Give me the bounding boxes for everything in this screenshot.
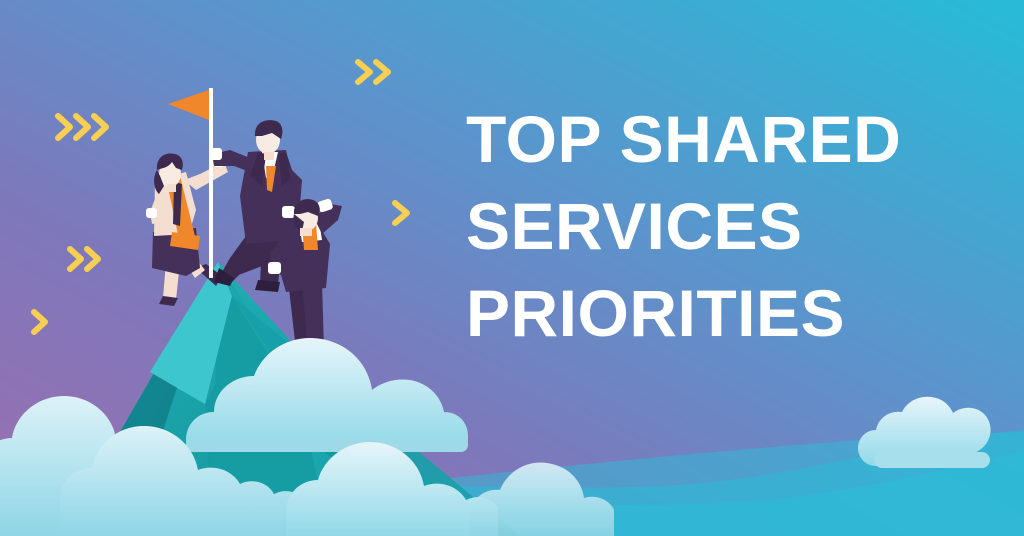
chevron-double-top-icon [358, 62, 388, 82]
cloud-floating-right [858, 397, 991, 468]
page-title: TOP SHARED SERVICES PRIORITIES [466, 96, 986, 357]
figure-woman-climber [146, 154, 228, 306]
chevron-triple-left-icon [58, 116, 106, 138]
headline-line-3: PRIORITIES [466, 270, 986, 357]
chevron-single-right-icon [395, 203, 407, 223]
cloud-bottom-right [286, 442, 614, 536]
flag-pennant [168, 90, 209, 120]
banner-root: TOP SHARED SERVICES PRIORITIES [0, 0, 1024, 536]
chevron-double-left-icon [70, 249, 98, 269]
chevron-single-left-icon [34, 312, 45, 332]
headline-line-2: SERVICES [466, 183, 986, 270]
headline-line-1: TOP SHARED [466, 96, 986, 183]
